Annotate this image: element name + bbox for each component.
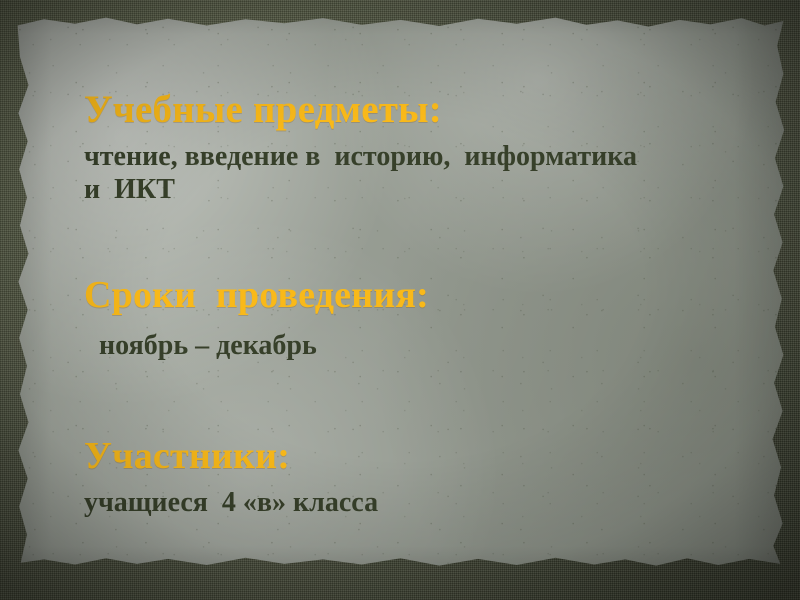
heading-participants: Участники: (0, 435, 800, 478)
dates-line-1: ноябрь – декабрь (0, 329, 800, 363)
content-block-participants: Участники: учащиеся 4 «в» класса (0, 435, 800, 519)
spacer (0, 132, 800, 140)
spacer (0, 317, 800, 329)
participants-line-1: учащиеся 4 «в» класса (0, 486, 800, 520)
content-block-dates: Сроки проведения: ноябрь – декабрь (0, 274, 800, 362)
presentation-slide: Учебные предметы: чтение, введение в ист… (0, 0, 800, 600)
subjects-line-2: и ИКТ (0, 173, 800, 207)
heading-dates: Сроки проведения: (0, 274, 800, 317)
subjects-line-1: чтение, введение в историю, информатика (0, 140, 800, 174)
spacer (0, 478, 800, 486)
slide-content: Учебные предметы: чтение, введение в ист… (0, 0, 800, 600)
content-block-subjects: Учебные предметы: чтение, введение в ист… (0, 88, 800, 207)
heading-subjects: Учебные предметы: (0, 88, 800, 132)
